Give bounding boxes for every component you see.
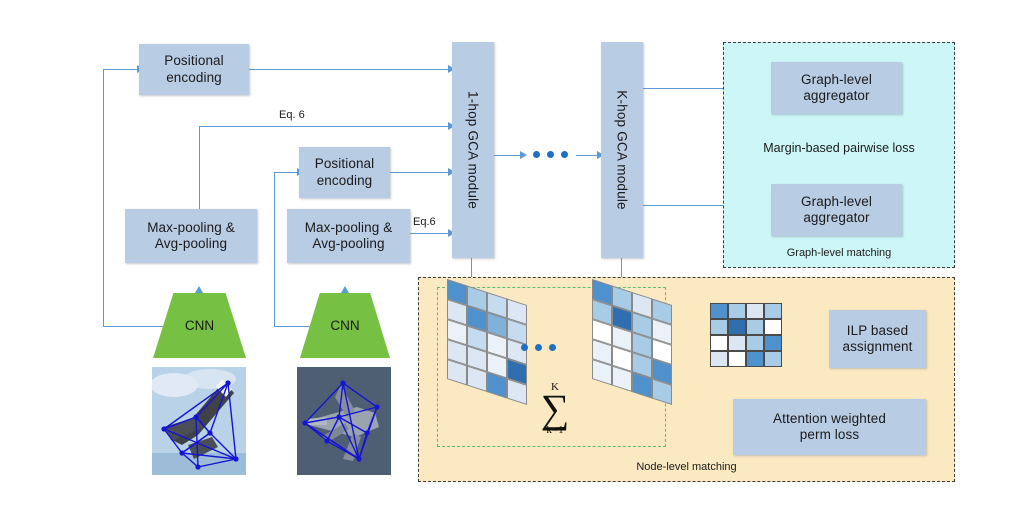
ilp-line2: assignment xyxy=(842,339,912,355)
matrix-cell xyxy=(710,351,728,367)
perm-loss-line1: Attention weighted xyxy=(773,411,886,427)
pooling-top[interactable]: Max-pooling & Avg-pooling xyxy=(125,209,257,263)
pe-bottom-line2: encoding xyxy=(315,173,375,189)
matrix-cell xyxy=(710,319,728,335)
eq6-bottom-label: Eq.6 xyxy=(413,216,436,228)
architecture-diagram: Eq. 6 Eq.6 n xyxy=(0,0,1024,509)
conn-cnn2-up xyxy=(274,172,275,326)
input-image-right xyxy=(297,367,391,475)
cnn-bottom[interactable]: CNN xyxy=(300,293,390,358)
graph-level-matching-caption: Graph-level matching xyxy=(787,247,892,259)
summation-symbol: K ∑ k=1 xyxy=(530,382,580,436)
graph-level-aggregator-top[interactable]: Graph-level aggregator xyxy=(771,62,902,114)
cnn-top[interactable]: CNN xyxy=(153,293,246,358)
matrix-row xyxy=(710,303,782,319)
pooling-top-line2: Avg-pooling xyxy=(147,236,235,252)
agg-bottom-line1: Graph-level xyxy=(801,194,872,210)
arrowhead-gca1-dots xyxy=(520,151,527,159)
conn-pe2-gca1 xyxy=(390,172,450,173)
margin-based-pairwise-loss-label: Margin-based pairwise loss xyxy=(723,141,955,155)
positional-encoding-top[interactable]: Positional encoding xyxy=(139,44,249,95)
pooling-top-line1: Max-pooling & xyxy=(147,220,235,236)
matrix-cell xyxy=(746,351,764,367)
gca-1hop-label: 1-hop GCA module xyxy=(466,91,481,209)
cnn-top-label: CNN xyxy=(185,318,214,333)
matrix-row xyxy=(710,319,782,335)
arrowhead-cnn1-pool1 xyxy=(195,286,203,293)
cnn-bottom-label: CNN xyxy=(330,318,359,333)
pooling-bottom-line2: Avg-pooling xyxy=(305,236,393,252)
attention-weighted-perm-loss[interactable]: Attention weighted perm loss xyxy=(733,399,926,455)
matrix-cell xyxy=(728,303,746,319)
pe-top-line1: Positional xyxy=(164,53,224,69)
matrix-cell xyxy=(746,335,764,351)
conn-gca1-dots xyxy=(494,155,522,156)
conn-cnn1-up xyxy=(103,69,104,326)
matrix-cell xyxy=(710,303,728,319)
conn-to-pe2 xyxy=(274,172,299,173)
conn-to-pe1 xyxy=(103,69,139,70)
arrowhead-cnn2-pool2 xyxy=(341,286,349,293)
agg-top-line1: Graph-level xyxy=(801,72,872,88)
node-level-matching-caption: Node-level matching xyxy=(636,461,736,473)
ilp-based-assignment[interactable]: ILP based assignment xyxy=(829,310,926,368)
positional-encoding-bottom[interactable]: Positional encoding xyxy=(299,147,390,198)
ilp-line1: ILP based xyxy=(842,323,912,339)
sigma-glyph: ∑ xyxy=(530,393,580,425)
conn-pool1-up xyxy=(199,126,200,218)
matrix-cell xyxy=(764,335,782,351)
conn-pool2-gca1 xyxy=(410,233,450,234)
pe-bottom-line1: Positional xyxy=(315,156,375,172)
agg-top-line2: aggregator xyxy=(801,88,872,104)
gca-ellipsis xyxy=(533,151,568,158)
gca-module-khop[interactable]: K-hop GCA module xyxy=(601,42,643,258)
sigma-lower-limit: k=1 xyxy=(530,425,580,436)
matrix-cell xyxy=(764,351,782,367)
matrix-ellipsis xyxy=(521,344,556,351)
matrix-cell xyxy=(728,335,746,351)
input-image-left xyxy=(152,367,246,475)
matrix-row xyxy=(710,335,782,351)
gca-module-1hop[interactable]: 1-hop GCA module xyxy=(452,42,494,258)
perm-loss-line2: perm loss xyxy=(773,427,886,443)
pooling-bottom[interactable]: Max-pooling & Avg-pooling xyxy=(287,209,410,263)
matrix-cell xyxy=(746,303,764,319)
eq6-top-label: Eq. 6 xyxy=(279,109,305,121)
matrix-cell xyxy=(728,319,746,335)
matrix-cell xyxy=(728,351,746,367)
conn-pe1-gca1 xyxy=(249,69,450,70)
pe-top-line2: encoding xyxy=(164,70,224,86)
pooling-bottom-line1: Max-pooling & xyxy=(305,220,393,236)
conn-eq6-top xyxy=(199,126,450,127)
agg-bottom-line2: aggregator xyxy=(801,210,872,226)
matrix-row xyxy=(710,351,782,367)
graph-level-aggregator-bottom[interactable]: Graph-level aggregator xyxy=(771,184,902,236)
gca-khop-label: K-hop GCA module xyxy=(615,90,630,210)
matrix-cell xyxy=(764,303,782,319)
normalized-affinity-matrix xyxy=(710,303,782,367)
matrix-cell xyxy=(764,319,782,335)
matrix-cell xyxy=(746,319,764,335)
matrix-cell xyxy=(710,335,728,351)
